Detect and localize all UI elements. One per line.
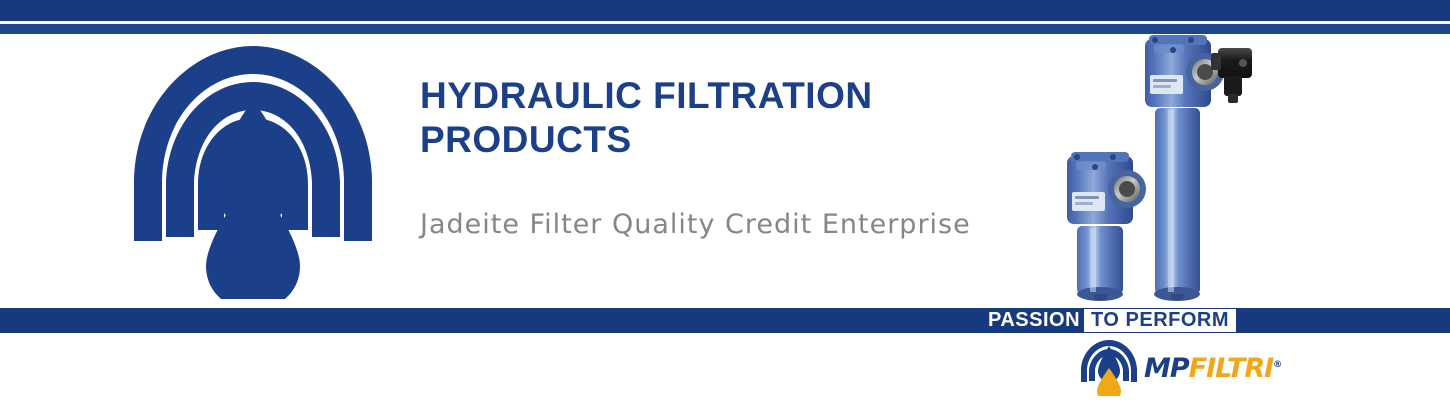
mp-filtri-small-logo <box>1078 338 1140 396</box>
mp-filtri-droplet-waves-logo <box>118 44 388 299</box>
brand-name-filtri: FILTRI <box>1189 353 1273 384</box>
tagline-passion: PASSION <box>988 309 1084 332</box>
tagline-to-perform: TO PERFORM <box>1084 309 1236 332</box>
headline-line-2: PRODUCTS <box>420 118 1040 162</box>
marketing-banner: HYDRAULIC FILTRATION PRODUCTS Jadeite Fi… <box>0 0 1450 400</box>
headline-line-1: HYDRAULIC FILTRATION <box>420 74 1040 118</box>
subheadline: Jadeite Filter Quality Credit Enterprise <box>420 209 1040 241</box>
top-bar-primary <box>0 0 1450 21</box>
brand-name-mp: MP <box>1144 353 1189 384</box>
tall-inline-filter <box>1145 35 1252 301</box>
hydraulic-filter-products-photo <box>1055 26 1295 311</box>
tagline: PASSION TO PERFORM <box>988 309 1244 332</box>
mp-filtri-wordmark: MPFILTRI® <box>1144 350 1281 384</box>
small-inline-filter <box>1067 152 1146 301</box>
headline-block: HYDRAULIC FILTRATION PRODUCTS Jadeite Fi… <box>420 74 1040 241</box>
mp-filtri-brand-lockup: MPFILTRI® <box>1078 338 1263 396</box>
registered-trademark-icon: ® <box>1273 360 1281 370</box>
tagline-endcap <box>1236 309 1244 332</box>
